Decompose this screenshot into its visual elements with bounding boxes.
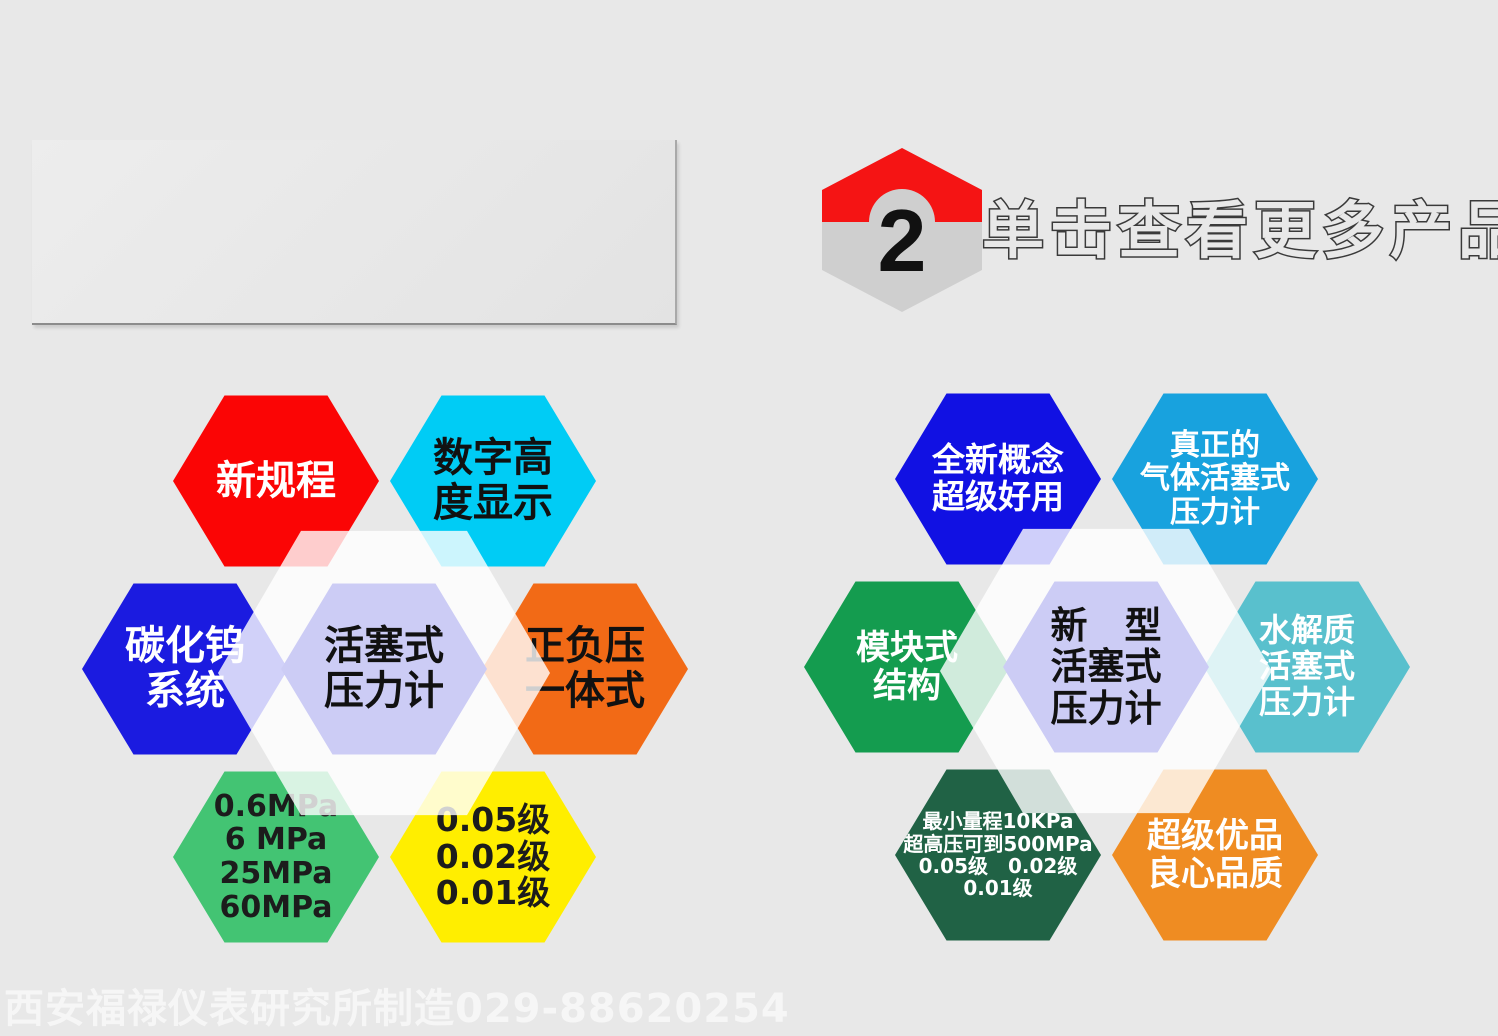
- cluster-right-petal-2-line: 压力计: [1170, 496, 1260, 530]
- cluster-right-petal-1[interactable]: 全新概念超级好用: [895, 390, 1101, 568]
- cluster-right-petal-2-line: 真正的: [1170, 429, 1260, 463]
- cluster-right-petal-3-line: 结构: [873, 667, 941, 705]
- hex-cluster-right: 全新概念超级好用真正的气体活塞式压力计模块式结构水解质活塞式压力计最小量程10K…: [800, 386, 1440, 966]
- cluster-right-petal-3-line: 模块式: [856, 629, 958, 667]
- cluster-right-petal-4-line: 水解质: [1259, 613, 1355, 649]
- cluster-right-petal-6[interactable]: 超级优品良心品质: [1112, 766, 1318, 944]
- cluster-right-petal-4-line: 活塞式: [1259, 649, 1355, 685]
- cluster-left-center-line: 活塞式: [324, 624, 444, 669]
- cluster-right-petal-4-line: 压力计: [1259, 685, 1355, 721]
- page-root: 2 单击查看更多产品 新规程数字高度显示碳化钨系统正负压一体式0.6MPa6 M…: [0, 0, 1498, 1036]
- cluster-left-petal-1-line: 新规程: [216, 459, 336, 504]
- cluster-left-petal-4-line: 正负压: [525, 624, 645, 669]
- cluster-left-petal-2[interactable]: 数字高度显示: [390, 392, 596, 570]
- cluster-right-petal-6-line: 良心品质: [1147, 855, 1283, 893]
- cluster-right-petal-5-line: 0.05级 0.02级: [919, 855, 1078, 877]
- cluster-left-center[interactable]: 活塞式压力计: [281, 580, 487, 758]
- cluster-right-petal-3[interactable]: 模块式结构: [804, 578, 1010, 756]
- hex-cluster-left: 新规程数字高度显示碳化钨系统正负压一体式0.6MPa6 MPa25MPa60MP…: [78, 388, 718, 968]
- cluster-left-petal-2-line: 度显示: [433, 481, 553, 526]
- cluster-left-petal-3-line: 系统: [145, 669, 225, 714]
- cluster-right-center-line: 压力计: [1051, 688, 1162, 729]
- cluster-right-petal-2-line: 气体活塞式: [1140, 462, 1290, 496]
- cluster-left-petal-4[interactable]: 正负压一体式: [482, 580, 688, 758]
- cluster-left-petal-5-line: 25MPa: [219, 857, 332, 891]
- cluster-right-center[interactable]: 新 型活塞式压力计: [1003, 578, 1209, 756]
- header-title: 单击查看更多产品: [982, 180, 1498, 270]
- step-badge-number: 2: [822, 176, 982, 306]
- image-placeholder-panel: [32, 140, 677, 325]
- step-badge-hexagon[interactable]: 2: [822, 148, 982, 312]
- cluster-right-center-line: 新 型: [1051, 605, 1162, 646]
- cluster-left-petal-5[interactable]: 0.6MPa6 MPa25MPa60MPa: [173, 768, 379, 946]
- cluster-right-petal-5[interactable]: 最小量程10KPa超高压可到500MPa0.05级 0.02级0.01级: [895, 766, 1101, 944]
- cluster-right-petal-1-line: 全新概念: [932, 442, 1064, 479]
- cluster-left-petal-3-line: 碳化钨: [125, 624, 245, 669]
- cluster-right-petal-5-line: 0.01级: [963, 877, 1032, 899]
- cluster-right-petal-1-line: 超级好用: [932, 479, 1064, 516]
- cluster-left-petal-3[interactable]: 碳化钨系统: [82, 580, 288, 758]
- cluster-right-petal-2[interactable]: 真正的气体活塞式压力计: [1112, 390, 1318, 568]
- cluster-right-petal-5-line: 超高压可到500MPa: [903, 833, 1092, 855]
- cluster-left-petal-5-line: 60MPa: [219, 891, 332, 925]
- cluster-left-petal-2-line: 数字高: [433, 436, 553, 481]
- cluster-left-petal-4-line: 一体式: [525, 669, 645, 714]
- cluster-left-petal-5-line: 0.6MPa: [214, 790, 338, 824]
- cluster-right-center-line: 活塞式: [1051, 646, 1162, 687]
- cluster-left-petal-5-line: 6 MPa: [225, 823, 328, 857]
- cluster-left-petal-6-line: 0.05级: [436, 802, 550, 839]
- cluster-right-petal-4[interactable]: 水解质活塞式压力计: [1204, 578, 1410, 756]
- cluster-right-petal-6-line: 超级优品: [1147, 817, 1283, 855]
- cluster-left-petal-6-line: 0.02级: [436, 839, 550, 876]
- cluster-right-petal-5-line: 最小量程10KPa: [923, 810, 1074, 832]
- cluster-left-petal-1[interactable]: 新规程: [173, 392, 379, 570]
- header-banner: 2 单击查看更多产品: [822, 140, 1482, 320]
- cluster-left-center-line: 压力计: [324, 669, 444, 714]
- cluster-left-petal-6-line: 0.01级: [436, 875, 550, 912]
- watermark-text: 西安福禄仪表研究所制造029-88620254: [4, 976, 790, 1034]
- cluster-left-petal-6[interactable]: 0.05级0.02级0.01级: [390, 768, 596, 946]
